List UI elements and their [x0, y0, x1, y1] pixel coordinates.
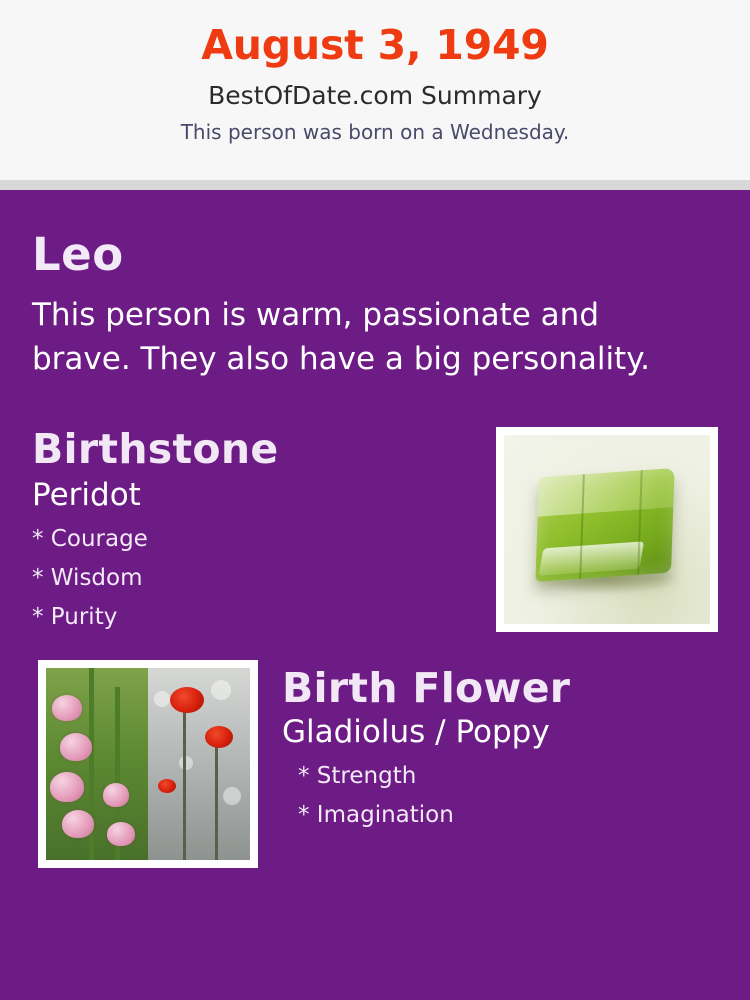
poppy-image	[148, 668, 250, 860]
birth-flower-traits: * Strength * Imagination	[282, 763, 718, 828]
poppy-bloom	[205, 726, 233, 748]
birth-flower-heading: Birth Flower	[282, 664, 718, 712]
peridot-gemstone-photo	[496, 427, 718, 632]
zodiac-description: This person is warm, passionate and brav…	[32, 293, 682, 381]
bokeh-circle	[211, 680, 231, 700]
gladiolus-image	[46, 668, 148, 860]
birthstone-section: Birthstone Peridot * Courage * Wisdom * …	[32, 425, 718, 630]
gem-facet	[539, 541, 644, 575]
zodiac-sign-name: Leo	[32, 190, 718, 281]
poppy-stem	[183, 710, 186, 860]
card-header: August 3, 1949 BestOfDate.com Summary Th…	[0, 0, 750, 180]
birth-flower-section: Birth Flower Gladiolus / Poppy * Strengt…	[32, 660, 718, 875]
gladiolus-bloom	[103, 783, 129, 807]
birth-day-note: This person was born on a Wednesday.	[0, 120, 750, 144]
birth-flower-text: Birth Flower Gladiolus / Poppy * Strengt…	[282, 660, 718, 828]
birth-flower-name: Gladiolus / Poppy	[282, 714, 718, 750]
gladiolus-bloom	[50, 772, 84, 802]
bokeh-circle	[154, 691, 170, 707]
gladiolus-bloom	[107, 822, 135, 846]
page-title: August 3, 1949	[0, 22, 750, 69]
card-body: Leo This person is warm, passionate and …	[0, 190, 750, 1000]
summary-card: August 3, 1949 BestOfDate.com Summary Th…	[0, 0, 750, 1000]
gladiolus-poppy-photo	[38, 660, 258, 868]
poppy-bud	[158, 779, 176, 793]
birth-flower-trait: * Imagination	[298, 802, 718, 828]
bokeh-circle	[223, 787, 241, 805]
birth-flower-trait: * Strength	[298, 763, 718, 789]
gladiolus-bloom	[60, 733, 92, 761]
gem-crystal	[535, 468, 674, 582]
poppy-bloom	[170, 687, 204, 713]
peridot-image-inner	[504, 435, 710, 624]
poppy-stem	[215, 745, 218, 860]
gladiolus-bloom	[62, 810, 94, 838]
gladiolus-bloom	[52, 695, 82, 721]
header-divider	[0, 180, 750, 190]
site-summary-label: BestOfDate.com Summary	[0, 81, 750, 110]
flower-image-inner	[46, 668, 250, 860]
